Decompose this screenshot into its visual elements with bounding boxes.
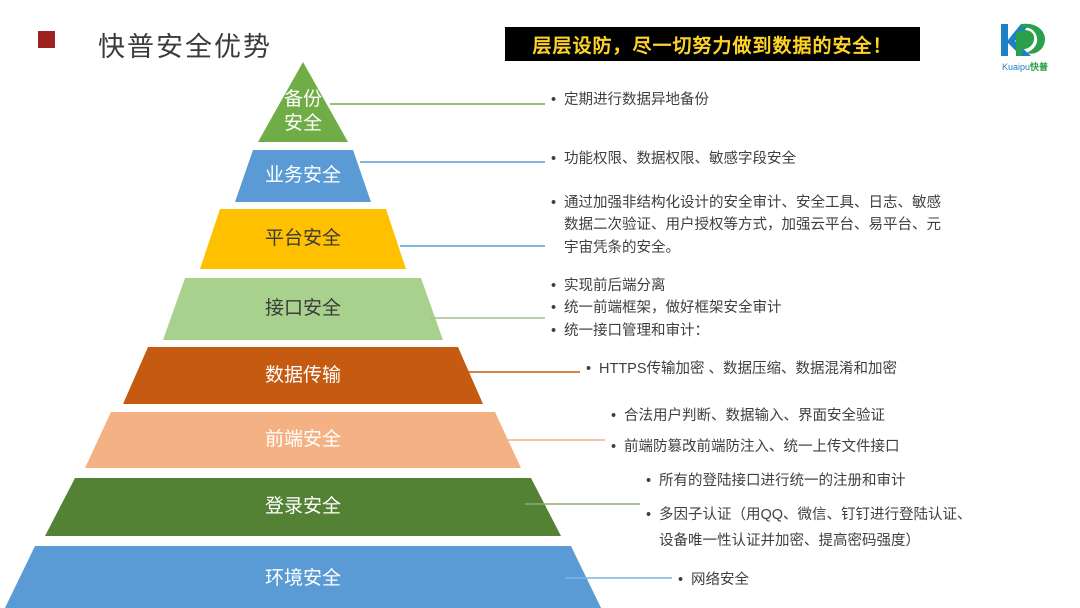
pyramid-band-platform-security[interactable]	[200, 209, 406, 269]
note-platform-security: 通过加强非结构化设计的安全审计、安全工具、日志、敏感数据二次验证、用户授权等方式…	[551, 192, 955, 259]
note-frontend-security: 合法用户判断、数据输入、界面安全验证 前端防篡改前端防注入、统一上传文件接口	[611, 405, 1031, 468]
note-item: 所有的登陆接口进行统一的注册和审计	[646, 469, 1066, 494]
note-item: 定期进行数据异地备份	[551, 89, 971, 111]
note-list: 通过加强非结构化设计的安全审计、安全工具、日志、敏感数据二次验证、用户授权等方式…	[551, 192, 955, 259]
note-backup-security: 定期进行数据异地备份	[551, 89, 971, 111]
pyramid-band-business-security[interactable]	[235, 150, 371, 202]
slide-canvas: 快普安全优势 层层设防，尽一切努力做到数据的安全！ Kuaipu快普 定期进行数…	[0, 0, 1080, 608]
note-data-transmission: HTTPS传输加密 、数据压缩、数据混淆和加密	[586, 358, 1006, 380]
note-item: 统一前端框架，做好框架安全审计	[551, 297, 971, 319]
note-environment-security: 网络安全	[678, 569, 978, 591]
note-item: 合法用户判断、数据输入、界面安全验证	[611, 405, 1031, 427]
note-list: 网络安全	[678, 569, 978, 591]
pyramid-band-interface-security[interactable]	[163, 278, 443, 340]
pyramid-band-frontend-security[interactable]	[85, 412, 521, 468]
note-list: 实现前后端分离 统一前端框架，做好框架安全审计 统一接口管理和审计：	[551, 275, 971, 342]
note-item: 通过加强非结构化设计的安全审计、安全工具、日志、敏感数据二次验证、用户授权等方式…	[551, 192, 955, 259]
note-item: 统一接口管理和审计：	[551, 320, 971, 342]
note-list: 功能权限、数据权限、敏感字段安全	[551, 148, 971, 170]
note-item: HTTPS传输加密 、数据压缩、数据混淆和加密	[586, 358, 1006, 380]
pyramid-band-login-security[interactable]	[45, 478, 561, 536]
note-item: 前端防篡改前端防注入、统一上传文件接口	[611, 436, 1031, 458]
pyramid-band-backup-security[interactable]	[258, 62, 348, 142]
note-login-security: 所有的登陆接口进行统一的注册和审计 多因子认证（用QQ、微信、钉钉进行登陆认证、…	[646, 469, 1066, 563]
pyramid-band-environment-security[interactable]	[3, 546, 603, 608]
note-item: 网络安全	[678, 569, 978, 591]
note-list: 定期进行数据异地备份	[551, 89, 971, 111]
note-item: 功能权限、数据权限、敏感字段安全	[551, 148, 971, 170]
note-list: 所有的登陆接口进行统一的注册和审计 多因子认证（用QQ、微信、钉钉进行登陆认证、…	[646, 469, 1066, 554]
note-interface-security: 实现前后端分离 统一前端框架，做好框架安全审计 统一接口管理和审计：	[551, 275, 971, 342]
note-business-security: 功能权限、数据权限、敏感字段安全	[551, 148, 971, 170]
note-list: HTTPS传输加密 、数据压缩、数据混淆和加密	[586, 358, 1006, 380]
note-item: 多因子认证（用QQ、微信、钉钉进行登陆认证、 设备唯一性认证并加密、提高密码强度…	[646, 503, 1066, 554]
note-list: 合法用户判断、数据输入、界面安全验证 前端防篡改前端防注入、统一上传文件接口	[611, 405, 1031, 459]
pyramid-band-data-transmission[interactable]	[123, 347, 483, 404]
note-item: 实现前后端分离	[551, 275, 971, 297]
